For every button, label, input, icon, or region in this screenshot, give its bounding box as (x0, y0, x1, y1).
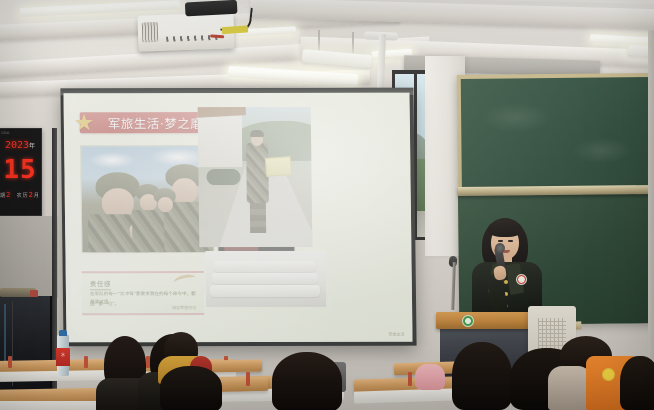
desk-leg (246, 372, 250, 386)
slide-footer-note: 军旅生活 (388, 332, 404, 338)
bottle-cap (59, 330, 67, 336)
projection-screen: ★ 军旅生活·梦之磨砺 (60, 88, 416, 347)
bush (206, 169, 240, 185)
chalk-smudge (571, 137, 631, 164)
led-clock-display: GBA 2023年 15 期2 农历2月 (0, 128, 42, 216)
card-signature: 摘自军旅日记 (172, 305, 196, 311)
pink-bag-on-desk (415, 364, 445, 390)
screen-surface: ★ 军旅生活·梦之磨砺 (63, 93, 412, 343)
folded-quilt (212, 273, 318, 284)
presenter-hand (493, 265, 507, 281)
led-brand-label: GBA (1, 130, 9, 135)
desk-leg (408, 372, 412, 386)
uniform-button (504, 280, 508, 284)
chalk-smudge (481, 102, 551, 133)
star-icon: ★ (74, 111, 98, 135)
hair (160, 366, 222, 410)
led-right-label: 农历 (17, 193, 29, 199)
lamp-rod (352, 32, 354, 54)
cabinet-top-red-item (30, 290, 38, 297)
bottle-label: 水 (56, 348, 70, 366)
hair (452, 342, 512, 410)
folded-quilt (214, 261, 316, 272)
hair (272, 352, 342, 410)
led-year-unit: 年 (29, 143, 35, 150)
folded-quilt (210, 285, 320, 297)
projector-vent (142, 22, 159, 43)
podium-emblem-icon (462, 315, 474, 327)
decorative-swoosh (173, 273, 197, 287)
led-left-value: 2 (6, 191, 11, 199)
eye (508, 240, 513, 242)
uniform-badge (516, 274, 527, 285)
presenter (468, 218, 546, 318)
presentation-slide: ★ 军旅生活·梦之磨砺 (63, 93, 412, 343)
desk-leg (84, 356, 88, 368)
card-heading: 责任感 (90, 278, 111, 290)
bottle-label-text: 水 (56, 352, 70, 358)
right-wall-panel (648, 30, 654, 360)
slide-photo-soldiers (80, 145, 214, 253)
slide-text-card: 责任感 在军队的每一“次冲锋”都要求我在的每个命令中，都是我对祖 国 “第一位”… (82, 271, 205, 315)
soldier-cap (250, 130, 264, 137)
slide-photo-folded-quilts (205, 251, 326, 307)
soldier-legs (250, 199, 266, 233)
projector (137, 12, 234, 51)
led-year-row: 2023年 (0, 140, 41, 151)
led-year-value: 2023 (5, 140, 29, 151)
microphone-head (495, 243, 505, 253)
soldier-face (172, 178, 198, 204)
soldier-body (132, 210, 165, 253)
led-sub-row: 期2 农历2月 (0, 191, 41, 199)
cloud (89, 152, 135, 168)
lamp-rod (318, 30, 320, 52)
led-day-value: 15 (0, 157, 41, 183)
classroom-photo: ★ 军旅生活·梦之磨砺 (0, 0, 654, 410)
award-certificate (265, 156, 292, 177)
soldier-face (158, 197, 173, 212)
vest-badge-icon (602, 368, 615, 381)
slide-photo-certificate (198, 107, 313, 247)
eye (498, 240, 503, 242)
hair (620, 356, 654, 410)
led-right-unit: 月 (34, 193, 40, 199)
left-wall-section (0, 216, 58, 298)
presenter-hair-top (488, 220, 522, 237)
desk-leg (8, 356, 12, 368)
